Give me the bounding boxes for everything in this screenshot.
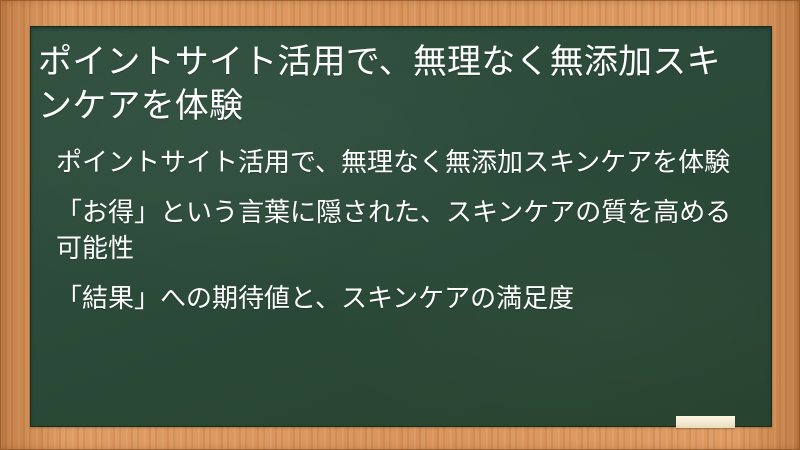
chalk-stick-icon	[676, 416, 735, 428]
list-item: 「結果」への期待値と、スキンケアの満足度	[56, 282, 760, 318]
list-item: ポイントサイト活用で、無理なく無添加スキンケアを体験	[56, 146, 760, 182]
chalkboard-slide: ポイントサイト活用で、無理なく無添加スキンケアを体験 ポイントサイト活用で、無理…	[0, 0, 800, 450]
board-content: ポイントサイト活用で、無理なく無添加スキンケアを体験 ポイントサイト活用で、無理…	[30, 26, 772, 427]
bullet-list: ポイントサイト活用で、無理なく無添加スキンケアを体験 「お得」という言葉に隠され…	[34, 146, 760, 318]
chalkboard-panel: ポイントサイト活用で、無理なく無添加スキンケアを体験 ポイントサイト活用で、無理…	[30, 26, 772, 427]
page-title: ポイントサイト活用で、無理なく無添加スキンケアを体験	[34, 34, 760, 128]
list-item: 「お得」という言葉に隠された、スキンケアの質を高める可能性	[56, 196, 760, 268]
